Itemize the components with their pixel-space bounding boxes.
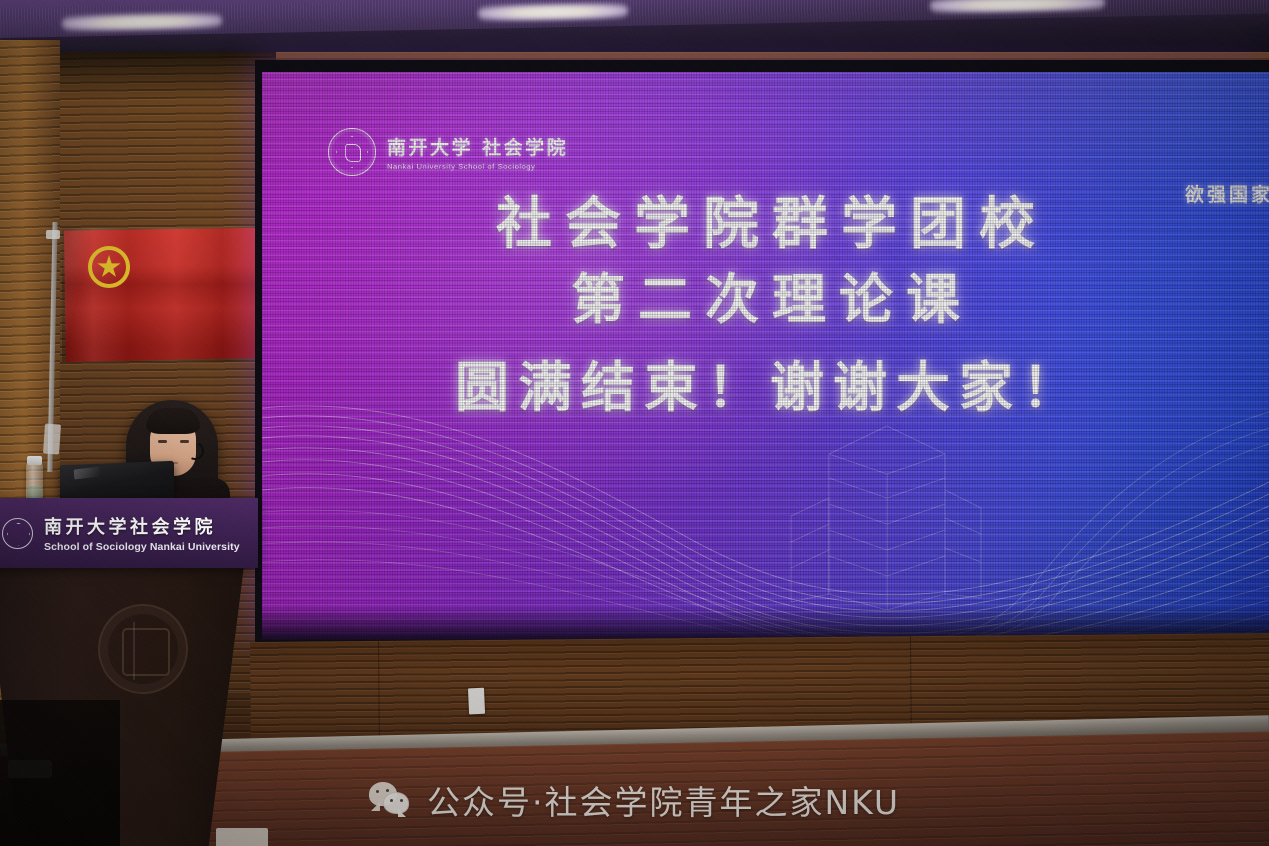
- screen-title-block: 社会学院群学团校 第二次理论课 圆满结束！谢谢大家！: [262, 190, 1269, 430]
- nankai-seal-icon: [2, 518, 33, 549]
- speaker-eye: [180, 440, 189, 443]
- title-line-2: 第二次理论课: [262, 258, 1269, 342]
- title-line-1: 社会学院群学团校: [262, 190, 1269, 258]
- wireframe-building-graphic: [767, 420, 985, 610]
- led-screen: 南开大学 社会学院 Nankai University School of So…: [262, 72, 1269, 640]
- foreground-object: [8, 760, 52, 778]
- podium-banner-cn: 南开大学社会学院: [44, 513, 240, 539]
- screen-brand-logo: 南开大学 社会学院 Nankai University School of So…: [328, 128, 568, 176]
- podium-banner: 南开大学社会学院 School of Sociology Nankai Univ…: [0, 498, 258, 568]
- youth-league-flag: [62, 228, 258, 362]
- bottle-cap: [27, 456, 42, 465]
- flag-clip: [43, 423, 61, 454]
- photo-scene: 南开大学 社会学院 Nankai University School of So…: [0, 0, 1269, 846]
- star-in-circle-icon: [88, 246, 130, 288]
- wall-marker: [468, 688, 485, 715]
- university-crest-icon: [98, 604, 188, 694]
- foreground-paper: [216, 828, 268, 846]
- podium-banner-en: School of Sociology Nankai University: [44, 541, 240, 553]
- screen-logo-en: Nankai University School of Sociology: [387, 162, 568, 171]
- speaker-fringe: [146, 408, 200, 434]
- university-seal-icon: [328, 128, 376, 176]
- screen-logo-cn: 南开大学 社会学院: [387, 133, 568, 160]
- speaker-eye: [158, 440, 167, 443]
- ceiling-light: [478, 2, 628, 21]
- flag-clip: [46, 230, 60, 239]
- ceiling-light: [62, 12, 222, 31]
- wall-shadow: [56, 52, 276, 100]
- title-line-3: 圆满结束！谢谢大家！: [262, 346, 1269, 430]
